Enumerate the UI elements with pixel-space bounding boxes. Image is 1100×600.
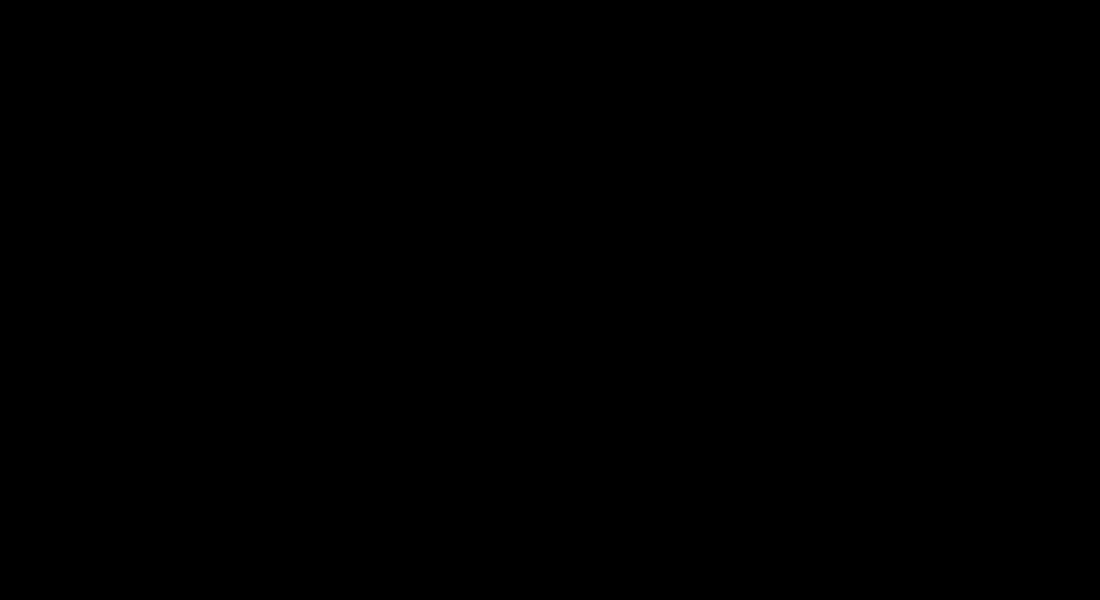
world-map [0,0,1100,600]
map-page [0,0,1100,600]
